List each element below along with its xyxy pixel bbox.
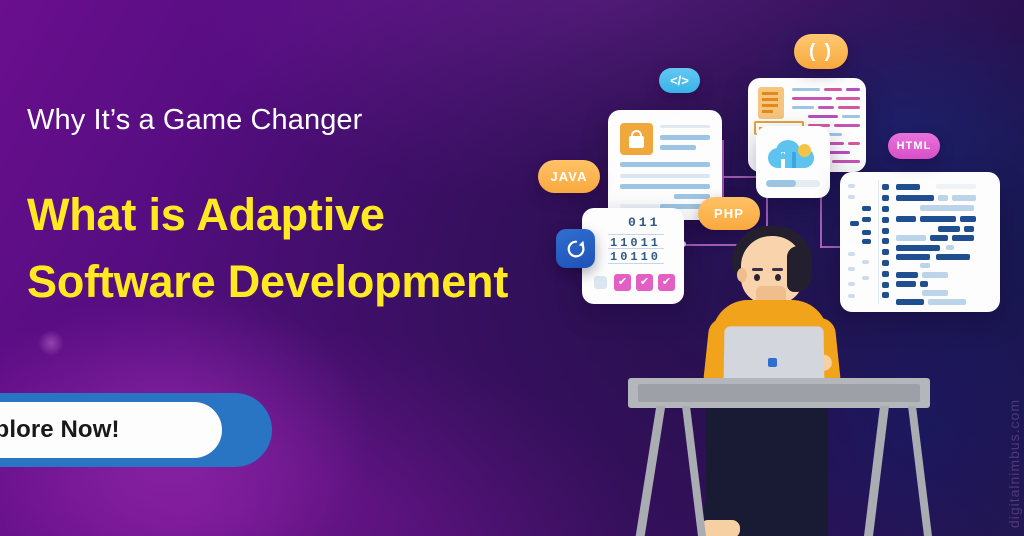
badge-html[interactable]: HTML [888, 133, 940, 159]
code-token [920, 216, 956, 222]
eyebrow-text: Why It’s a Game Changer [27, 104, 362, 137]
code-token [920, 205, 974, 211]
headline-line-1: What is Adaptive [27, 182, 508, 249]
cta-label: Explore Now! [0, 416, 120, 444]
person-hair-side [787, 246, 811, 292]
code-bullet [882, 260, 889, 266]
gutter-mark [848, 252, 855, 256]
gutter-mark [862, 206, 871, 211]
code-token [920, 281, 928, 287]
code-line [846, 88, 860, 91]
code-bullet [882, 206, 889, 212]
desk-leg [864, 406, 889, 536]
binary-top-value: 011 [628, 215, 660, 230]
checkbox-checked[interactable]: ✔ [636, 274, 653, 291]
headline-line-2: Software Development [27, 249, 508, 316]
text-line [620, 184, 710, 189]
code-line [838, 106, 860, 109]
code-token [896, 254, 930, 260]
badge-php[interactable]: PHP [698, 197, 760, 230]
gutter-mark [862, 217, 871, 222]
editor-divider [878, 180, 879, 304]
code-token [922, 272, 948, 278]
code-line [824, 88, 842, 91]
code-bullet [882, 184, 889, 190]
code-token [938, 226, 960, 232]
gutter-mark [862, 260, 869, 264]
code-token [896, 184, 920, 190]
code-token [896, 272, 918, 278]
text-line [620, 174, 710, 178]
gutter-mark [862, 230, 871, 235]
text-line [674, 194, 710, 199]
file-icon [758, 87, 784, 119]
badge-code-tag[interactable]: </> [659, 68, 700, 93]
desk-drawer [638, 384, 920, 402]
person-eye [775, 274, 781, 281]
code-line [808, 115, 838, 118]
text-line [620, 162, 710, 167]
code-bullet [882, 217, 889, 223]
code-line [818, 106, 834, 109]
code-line [842, 115, 860, 118]
gutter-mark [862, 239, 871, 244]
code-token [920, 263, 930, 268]
gutter-mark [848, 282, 855, 286]
code-token [896, 216, 916, 222]
code-line [792, 88, 820, 91]
gutter-mark [848, 184, 855, 188]
code-token [896, 299, 924, 305]
code-line [792, 97, 832, 100]
code-bullet [882, 271, 889, 277]
code-token [922, 290, 948, 296]
cta-inner-pill[interactable]: Explore Now! [0, 402, 222, 458]
code-token [952, 235, 974, 241]
text-line [660, 135, 710, 140]
explore-now-button[interactable]: Explore Now! [0, 393, 272, 467]
sync-icon[interactable] [556, 229, 595, 268]
code-line [848, 142, 860, 145]
watermark: digitalnimbus.com [1006, 399, 1022, 528]
checkbox-placeholder [594, 276, 607, 289]
code-bullet [882, 195, 889, 201]
text-line [660, 125, 710, 128]
code-token [936, 254, 970, 260]
person-ear [737, 268, 747, 282]
code-token [938, 195, 948, 201]
person-brow [772, 268, 783, 271]
code-line [792, 106, 814, 109]
badge-parenthesis[interactable]: ( ) [794, 34, 848, 69]
desk-leg [682, 406, 706, 536]
code-token [952, 195, 976, 201]
code-token [930, 235, 948, 241]
gutter-mark [850, 221, 859, 226]
code-bullet [882, 282, 889, 288]
code-token [960, 216, 976, 222]
code-token [896, 281, 916, 287]
code-bullet [882, 238, 889, 244]
gutter-mark [862, 276, 869, 280]
page-title: What is Adaptive Software Development [27, 182, 508, 315]
cloud-card [756, 126, 830, 198]
code-token [896, 245, 940, 251]
desk-leg [636, 406, 666, 536]
checkbox-checked[interactable]: ✔ [658, 274, 675, 291]
promo-banner: 011 11011 10110 ✔ ✔ ✔ [0, 0, 1024, 536]
binary-row-2: 10110 [610, 250, 661, 264]
person-brow [752, 268, 763, 271]
code-token [964, 226, 974, 232]
grid-line [608, 263, 664, 264]
code-bullet [882, 249, 889, 255]
desk-leg [908, 406, 932, 536]
cloud-sync-icon [768, 138, 818, 170]
code-token [946, 245, 954, 250]
code-line [836, 97, 860, 100]
gutter-mark [848, 267, 855, 271]
code-line [832, 160, 860, 163]
laptop-logo [768, 358, 777, 367]
checkbox-checked[interactable]: ✔ [614, 274, 631, 291]
binary-card: 011 11011 10110 ✔ ✔ ✔ [582, 208, 684, 304]
gutter-mark [848, 195, 855, 199]
text-line [660, 145, 696, 150]
grid-line [608, 234, 664, 235]
code-bullet [882, 228, 889, 234]
code-token [896, 195, 934, 201]
code-token [936, 184, 976, 189]
lock-icon [620, 123, 653, 155]
code-token [928, 299, 966, 305]
code-token [896, 235, 926, 241]
code-bullet [882, 292, 889, 298]
code-line [834, 124, 860, 127]
gutter-mark [848, 294, 855, 298]
badge-java[interactable]: JAVA [538, 160, 600, 193]
grid-line [608, 248, 664, 249]
person-foot [700, 520, 740, 536]
progress-fill [766, 180, 796, 187]
code-editor-card [840, 172, 1000, 312]
person-eye [754, 274, 760, 281]
